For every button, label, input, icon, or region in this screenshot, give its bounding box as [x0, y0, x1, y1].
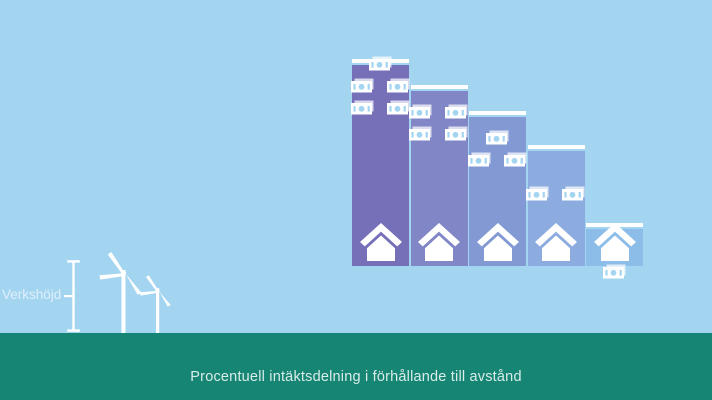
house-icon [476, 221, 520, 266]
banknote-icon [409, 104, 433, 119]
banknote-icon [468, 152, 492, 167]
house-icon [359, 221, 403, 266]
infographic-canvas: Verkshöjd [0, 0, 712, 400]
banknote-icon [351, 78, 375, 93]
money-row [352, 78, 409, 93]
banknote-icon [387, 100, 411, 115]
money-stack [528, 186, 585, 208]
banknote-icon [526, 186, 550, 201]
money-row [528, 186, 585, 201]
money-stack [469, 130, 526, 174]
bar-top-cap [528, 145, 585, 149]
banknote-icon [445, 104, 469, 119]
banknote-icon [504, 152, 528, 167]
house-icon [593, 221, 637, 266]
banknote-icon [409, 126, 433, 141]
banknote-icon [562, 186, 586, 201]
banknote-icon [387, 78, 411, 93]
bar-top-cap [469, 111, 526, 115]
money-stack [352, 56, 409, 122]
banknote-icon [445, 126, 469, 141]
money-row [469, 152, 526, 167]
banknote-icon [603, 264, 627, 279]
banknote-icon [369, 56, 393, 71]
chart-plot-area: Verkshöjd [0, 0, 712, 333]
banknote-icon [351, 100, 375, 115]
money-row [469, 130, 526, 145]
money-row [411, 126, 468, 141]
bar-top-cap [411, 85, 468, 89]
footer-band: Procentuell intäktsdelning i förhållande… [0, 333, 712, 400]
money-row [411, 104, 468, 119]
bar-column[interactable] [586, 223, 643, 266]
banknote-icon [486, 130, 510, 145]
money-stack [411, 104, 468, 148]
chart-caption: Procentuell intäktsdelning i förhållande… [0, 369, 712, 385]
money-stack [586, 264, 643, 286]
money-row [352, 56, 409, 71]
money-row [586, 264, 643, 279]
house-icon [417, 221, 461, 266]
bars-layer [0, 0, 712, 333]
house-icon [534, 221, 578, 266]
money-row [352, 100, 409, 115]
